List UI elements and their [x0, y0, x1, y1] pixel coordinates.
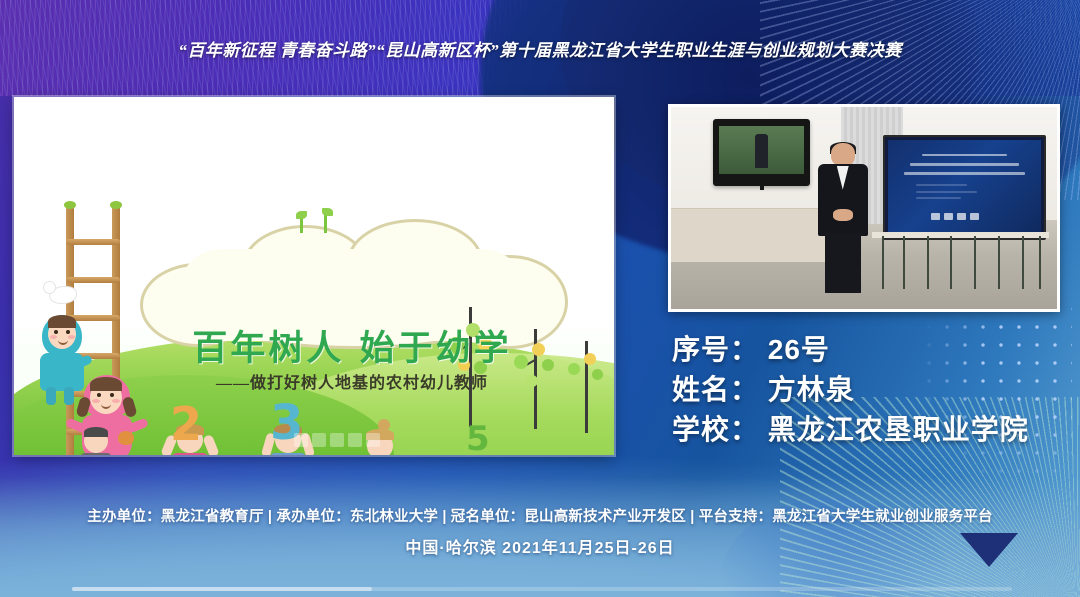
slide-subtitle: ——做打好树人地基的农村幼儿教师 — [142, 369, 562, 393]
presentation-slide[interactable]: 1 2 3 — [14, 97, 614, 455]
event-title: “百年新征程 青春奋斗路”“昆山高新区杯”第十届黑龙江省大学生职业生涯与创业规划… — [0, 36, 1080, 61]
slide-watermark-icons — [294, 433, 414, 449]
wall-tv-icon — [713, 119, 810, 186]
child-number-1-figure: 1 — [74, 427, 120, 455]
contestant-info-panel: 序号： 26号 姓名： 方林泉 学校： 黑龙江农垦职业学院 — [672, 330, 1072, 449]
display-board-logos — [931, 213, 979, 220]
wall-tv-person — [755, 134, 769, 168]
presentation-screen: “百年新征程 青春奋斗路”“昆山高新区杯”第十届黑龙江省大学生职业生涯与创业规划… — [0, 0, 1080, 597]
speaker-video-player[interactable] — [668, 104, 1060, 312]
presenter-head — [831, 143, 855, 165]
footer-organizers: 主办单位：黑龙江省教育厅 | 承办单位：东北林业大学 | 冠名单位：昆山高新技术… — [0, 505, 1080, 526]
number-glyph-5: 5 — [466, 419, 490, 455]
sprout-stem-2-icon — [324, 215, 327, 233]
video-progress-bar[interactable] — [72, 587, 1012, 591]
contestant-serial-row: 序号： 26号 — [672, 330, 1072, 370]
sprout-leaf-icon — [296, 211, 307, 219]
wall-tv-screen — [719, 126, 804, 174]
wall-tv-mount — [760, 185, 764, 190]
tree-icon-3 — [566, 341, 606, 433]
footer-place-date: 中国·哈尔滨 2021年11月25日-26日 — [0, 534, 1080, 558]
display-board-screen — [888, 140, 1040, 235]
video-table-legs — [876, 236, 1046, 289]
presenter-legs — [825, 233, 861, 293]
classroom-display-board — [883, 135, 1045, 240]
sprout-leaf-2-icon — [322, 208, 333, 216]
contestant-school-row: 学校： 黑龙江农垦职业学院 — [672, 410, 1072, 450]
speaker-video-content — [671, 107, 1057, 309]
contestant-name-row: 姓名： 方林泉 — [672, 370, 1072, 410]
slide-title: 百年树人 始于幼学 — [142, 320, 562, 371]
sprout-stem-icon — [300, 217, 303, 233]
presenter-hands — [833, 209, 853, 221]
presenter-person — [818, 143, 868, 292]
child-number-2-figure: 2 — [164, 421, 216, 455]
number-glyph-2: 2 — [170, 397, 202, 451]
